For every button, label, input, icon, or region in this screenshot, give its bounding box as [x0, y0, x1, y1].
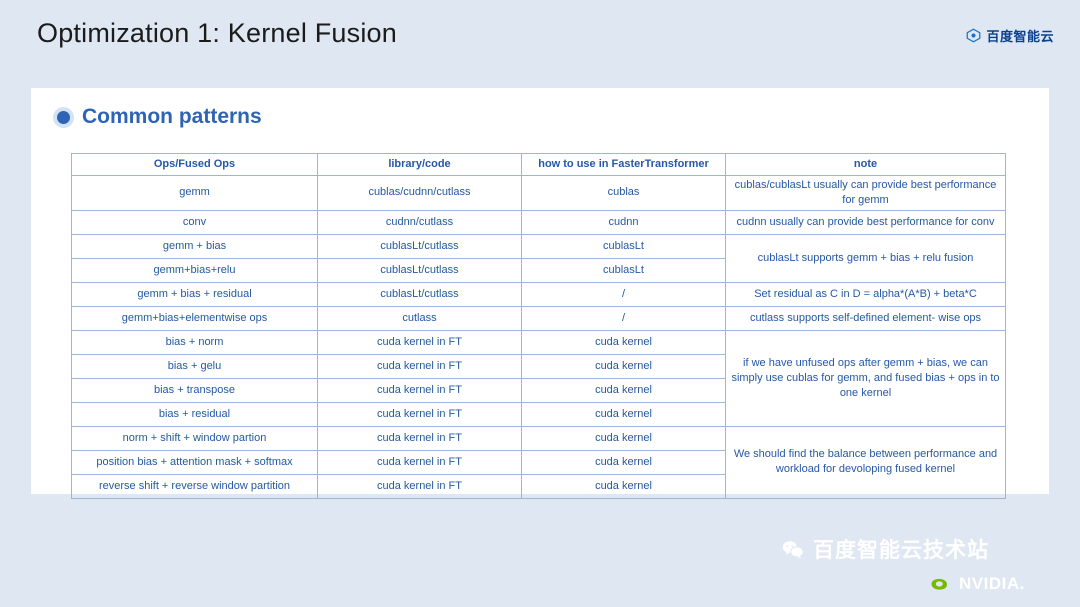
wechat-account-name: 百度智能云技术站 — [813, 534, 989, 564]
table-row: convcudnn/cutlasscudnncudnn usually can … — [72, 210, 1006, 234]
cell-library: cuda kernel in FT — [318, 330, 522, 354]
cell-library: cuda kernel in FT — [318, 402, 522, 426]
table-row: gemm + bias + residualcublasLt/cutlass/S… — [72, 282, 1006, 306]
cell-op: gemm+bias+relu — [72, 258, 318, 282]
cell-op: norm + shift + window partion — [72, 426, 318, 450]
cell-op: reverse shift + reverse window partition — [72, 474, 318, 498]
cell-note: cutlass supports self-defined element- w… — [726, 306, 1006, 330]
cell-note: cublas/cublasLt usually can provide best… — [726, 176, 1006, 211]
cell-note: Set residual as C in D = alpha*(A*B) + b… — [726, 282, 1006, 306]
baidu-cloud-icon — [966, 28, 981, 43]
cell-usage: cuda kernel — [522, 426, 726, 450]
nvidia-wordmark: NVIDIA. — [959, 574, 1025, 594]
table-row: gemm+bias+elementwise opscutlass/cutlass… — [72, 306, 1006, 330]
fusion-table: Ops/Fused Ops library/code how to use in… — [71, 153, 1006, 499]
nvidia-eye-icon — [930, 576, 952, 592]
page-title: Optimization 1: Kernel Fusion — [37, 18, 397, 49]
cell-usage: cuda kernel — [522, 402, 726, 426]
column-header-usage: how to use in FasterTransformer — [522, 154, 726, 176]
cell-library: cuda kernel in FT — [318, 426, 522, 450]
baidu-cloud-logo: 百度智能云 — [966, 26, 1054, 45]
cell-note: cudnn usually can provide best performan… — [726, 210, 1006, 234]
section-title: Common patterns — [82, 105, 262, 129]
column-header-library: library/code — [318, 154, 522, 176]
section-header: Common patterns — [57, 105, 262, 129]
cell-op: gemm — [72, 176, 318, 211]
cell-library: cuda kernel in FT — [318, 474, 522, 498]
table-row: norm + shift + window partioncuda kernel… — [72, 426, 1006, 450]
cell-usage: cublasLt — [522, 258, 726, 282]
cell-op: position bias + attention mask + softmax — [72, 450, 318, 474]
cell-usage: cuda kernel — [522, 378, 726, 402]
table-row: gemmcublas/cudnn/cutlasscublascublas/cub… — [72, 176, 1006, 211]
cell-note: if we have unfused ops after gemm + bias… — [726, 330, 1006, 426]
cell-library: cublas/cudnn/cutlass — [318, 176, 522, 211]
cell-usage: cublasLt — [522, 234, 726, 258]
cell-op: gemm + bias + residual — [72, 282, 318, 306]
cell-usage: cublas — [522, 176, 726, 211]
cell-library: cublasLt/cutlass — [318, 258, 522, 282]
cell-op: gemm + bias — [72, 234, 318, 258]
cell-op: bias + gelu — [72, 354, 318, 378]
cell-library: cuda kernel in FT — [318, 450, 522, 474]
wechat-footer: 百度智能云技术站 — [782, 534, 989, 564]
cell-usage: cuda kernel — [522, 450, 726, 474]
cell-usage: cuda kernel — [522, 330, 726, 354]
column-header-ops: Ops/Fused Ops — [72, 154, 318, 176]
bullet-icon — [57, 111, 70, 124]
baidu-cloud-label: 百度智能云 — [986, 26, 1054, 45]
cell-op: bias + residual — [72, 402, 318, 426]
cell-usage: cuda kernel — [522, 474, 726, 498]
cell-library: cuda kernel in FT — [318, 378, 522, 402]
cell-op: conv — [72, 210, 318, 234]
table-body: gemmcublas/cudnn/cutlasscublascublas/cub… — [72, 176, 1006, 499]
cell-library: cutlass — [318, 306, 522, 330]
table-row: gemm + biascublasLt/cutlasscublasLtcubla… — [72, 234, 1006, 258]
cell-note: cublasLt supports gemm + bias + relu fus… — [726, 234, 1006, 282]
wechat-icon — [782, 540, 804, 559]
table-row: bias + normcuda kernel in FTcuda kerneli… — [72, 330, 1006, 354]
cell-op: bias + norm — [72, 330, 318, 354]
cell-usage: cuda kernel — [522, 354, 726, 378]
nvidia-logo: NVIDIA. — [930, 574, 1025, 594]
cell-op: bias + transpose — [72, 378, 318, 402]
cell-usage: cudnn — [522, 210, 726, 234]
column-header-note: note — [726, 154, 1006, 176]
slide: Optimization 1: Kernel Fusion 百度智能云 Comm… — [0, 0, 1080, 607]
cell-library: cublasLt/cutlass — [318, 234, 522, 258]
cell-usage: / — [522, 282, 726, 306]
cell-library: cuda kernel in FT — [318, 354, 522, 378]
cell-library: cublasLt/cutlass — [318, 282, 522, 306]
table-header-row: Ops/Fused Ops library/code how to use in… — [72, 154, 1006, 176]
cell-op: gemm+bias+elementwise ops — [72, 306, 318, 330]
cell-usage: / — [522, 306, 726, 330]
cell-note: We should find the balance between perfo… — [726, 426, 1006, 498]
cell-library: cudnn/cutlass — [318, 210, 522, 234]
